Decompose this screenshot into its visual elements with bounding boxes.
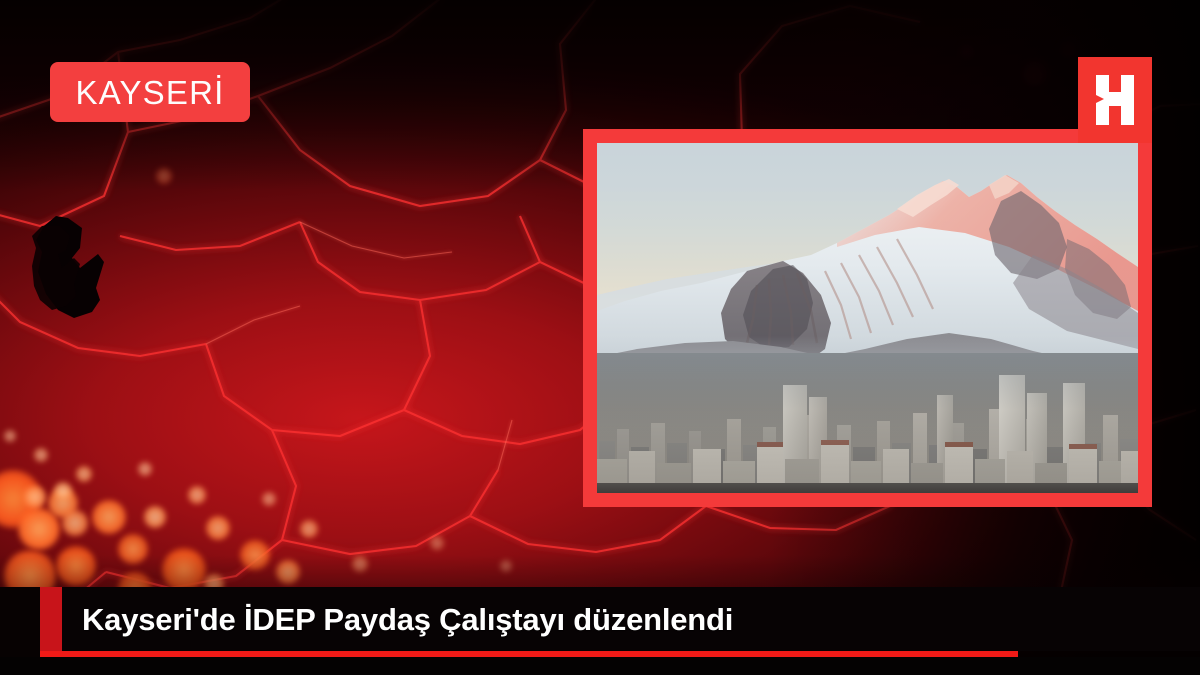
caption-area: Kayseri'de İDEP Paydaş Çalıştayı düzenle… — [0, 587, 1200, 675]
news-card-canvas: KAYSERİ — [0, 0, 1200, 675]
caption-underline — [40, 651, 1018, 657]
caption-left-fill — [0, 587, 40, 657]
photo-cityscape — [597, 353, 1138, 493]
caption-bottom-fill — [0, 657, 1200, 675]
news-photo — [597, 143, 1138, 493]
photo-frame — [583, 129, 1152, 507]
h-logo-icon[interactable] — [1078, 57, 1152, 143]
caption-accent-stripe — [40, 587, 62, 651]
city-badge[interactable]: KAYSERİ — [50, 62, 250, 122]
city-badge-label: KAYSERİ — [75, 76, 224, 109]
caption-bar: Kayseri'de İDEP Paydaş Çalıştayı düzenle… — [62, 587, 1200, 651]
headline-text: Kayseri'de İDEP Paydaş Çalıştayı düzenle… — [62, 604, 733, 635]
